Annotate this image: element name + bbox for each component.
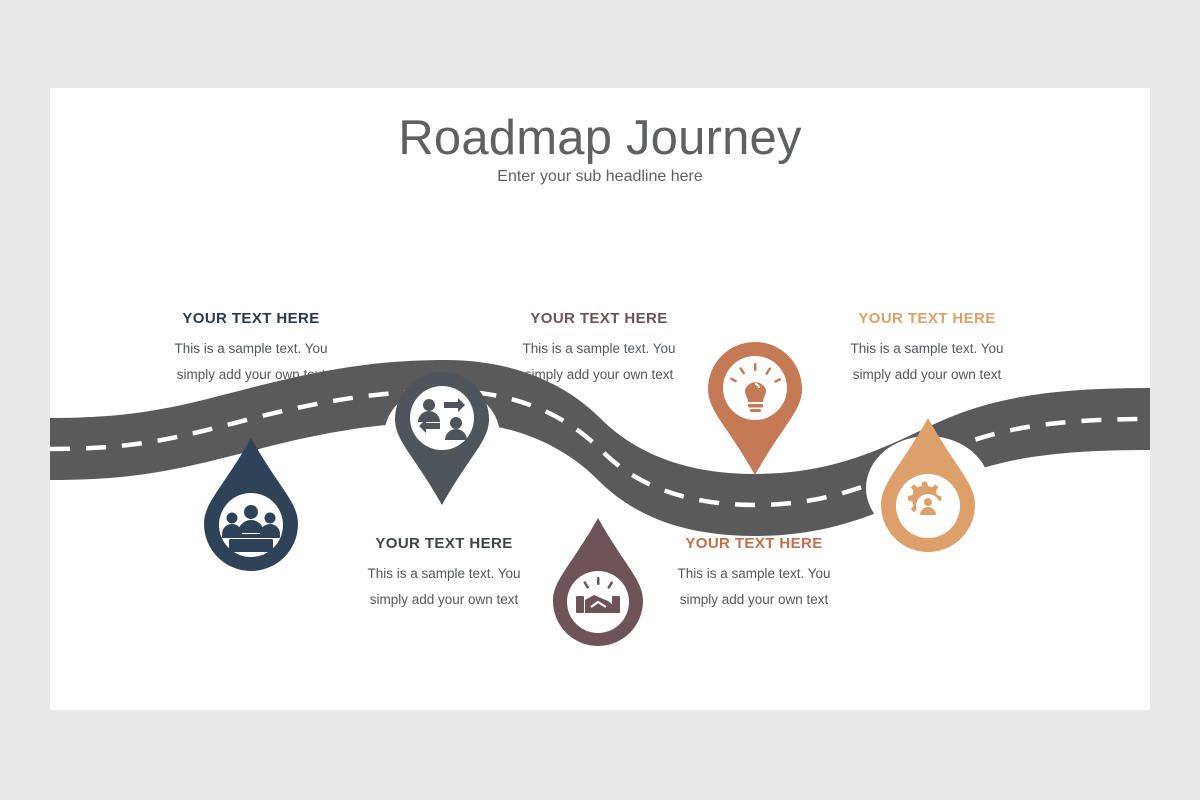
slide-canvas: Roadmap Journey Enter your sub headline …: [50, 88, 1150, 710]
marker-1[interactable]: [189, 438, 313, 571]
step-text-5: YOUR TEXT HERE This is a sample text. Yo…: [812, 310, 1042, 388]
step-body-3: This is a sample text. You simply add yo…: [484, 336, 714, 388]
step-body-5: This is a sample text. You simply add yo…: [812, 336, 1042, 388]
roadmap-graphic: YOUR TEXT HERE This is a sample text. Yo…: [50, 88, 1150, 710]
step-text-3: YOUR TEXT HERE This is a sample text. Yo…: [484, 310, 714, 388]
step-body-4: This is a sample text. You simply add yo…: [639, 561, 869, 613]
marker-5[interactable]: [866, 418, 990, 552]
step-heading-4: YOUR TEXT HERE: [639, 535, 869, 552]
marker-group: [50, 88, 1150, 710]
marker-2[interactable]: [384, 372, 500, 505]
step-heading-1: YOUR TEXT HERE: [136, 310, 366, 327]
step-heading-3: YOUR TEXT HERE: [484, 310, 714, 327]
step-text-2: YOUR TEXT HERE This is a sample text. Yo…: [329, 535, 559, 613]
step-body-2: This is a sample text. You simply add yo…: [329, 561, 559, 613]
step-heading-5: YOUR TEXT HERE: [812, 310, 1042, 327]
step-text-1: YOUR TEXT HERE This is a sample text. Yo…: [136, 310, 366, 388]
step-body-1: This is a sample text. You simply add yo…: [136, 336, 366, 388]
marker-4[interactable]: [697, 342, 813, 475]
step-heading-2: YOUR TEXT HERE: [329, 535, 559, 552]
step-text-4: YOUR TEXT HERE This is a sample text. Yo…: [639, 535, 869, 613]
